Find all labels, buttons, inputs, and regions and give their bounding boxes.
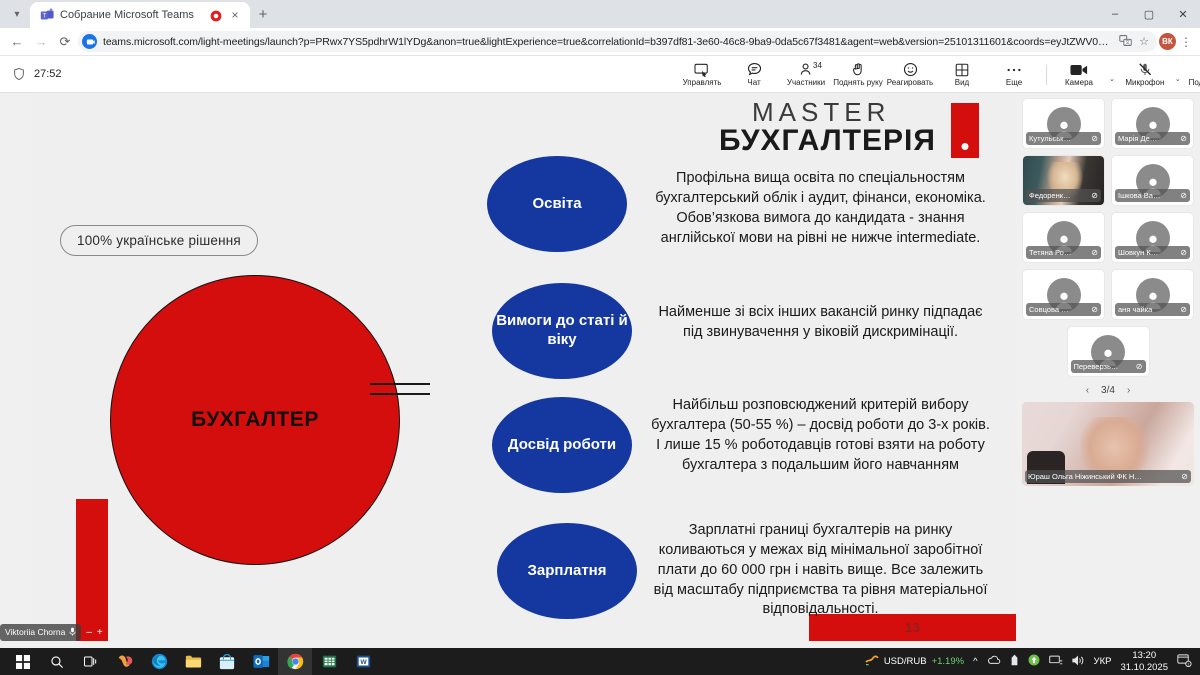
manage-button[interactable]: Управлять (676, 56, 728, 93)
participant-tile[interactable]: Федоренк… ⊘ (1022, 155, 1105, 206)
window-close-button[interactable]: ✕ (1166, 0, 1200, 28)
record-dot-icon[interactable] (210, 9, 222, 21)
slide-ellipse-experience: Досвід роботи (492, 397, 632, 493)
slide-ellipse-salary: Зарплатня (497, 523, 637, 619)
tab-title: Собрание Microsoft Teams (60, 9, 204, 21)
participant-name-chip: Федоренк… ⊘ (1026, 189, 1101, 202)
stocks-label: USD/RUB (884, 656, 927, 667)
participant-name-chip: Ішкова Ва… ⊘ (1115, 189, 1190, 202)
close-icon[interactable]: × (228, 9, 242, 21)
raise-hand-label: Поднять руку (833, 78, 882, 87)
participants-button[interactable]: 34 Участники (780, 56, 832, 93)
participants-count: 34 (813, 61, 822, 70)
meeting-timer: 27:52 (34, 68, 62, 80)
store-icon[interactable] (210, 648, 244, 675)
participant-tile[interactable]: Шовкун К… ⊘ (1111, 212, 1194, 263)
participant-name: аня чайка (1118, 305, 1178, 314)
chrome-icon[interactable] (278, 648, 312, 675)
ellipse-label: Вимоги до статі й віку (492, 312, 632, 350)
smiley-icon (903, 62, 918, 77)
next-page-button[interactable]: › (1127, 385, 1130, 396)
zoom-out-button[interactable]: – (86, 627, 92, 638)
tray-overflow-icon[interactable]: ^ (973, 656, 977, 667)
pen-icon[interactable] (1010, 654, 1019, 670)
participant-name-chip: Марія Де… ⊘ (1115, 132, 1190, 145)
mic-muted-icon: ⊘ (1091, 248, 1098, 257)
participant-name: Кутульськ… (1029, 134, 1089, 143)
participant-name: Совцова … (1029, 305, 1089, 314)
participant-tile[interactable]: Совцова … ⊘ (1022, 269, 1105, 320)
slide-text-salary: Зарплатні границі бухгалтерів на ринку к… (648, 521, 993, 620)
participant-rail: Кутульськ… ⊘ Марія Де… ⊘ Федоренк… ⊘ (1016, 93, 1200, 653)
ellipse-label: Освіта (532, 195, 581, 214)
word-icon[interactable]: W (346, 648, 380, 675)
participant-name: Шовкун К… (1118, 248, 1178, 257)
excel-icon[interactable] (312, 648, 346, 675)
mic-muted-icon: ⊘ (1091, 305, 1098, 314)
mic-muted-icon: ⊘ (1180, 248, 1187, 257)
svg-text:T: T (43, 13, 47, 20)
camera-chevron-down-icon[interactable]: ⌄ (1105, 75, 1119, 83)
stocks-glyph-icon (865, 654, 879, 669)
slide-text-experience: Найбільш розповсюджений критерій вибору … (648, 396, 993, 475)
participant-grid: Кутульськ… ⊘ Марія Де… ⊘ Федоренк… ⊘ (1022, 98, 1194, 320)
roster-pager: ‹ 3/4 › (1022, 377, 1194, 402)
master-buhgalteria-logo: MASTER БУХГАЛТЕРІЯ (719, 99, 979, 157)
address-bar[interactable]: teams.microsoft.com/light-meetings/launc… (78, 31, 1157, 52)
update-icon[interactable] (1028, 654, 1040, 669)
self-name-chip: Viktoriia Chorna (0, 624, 81, 641)
participant-name-chip: Кутульськ… ⊘ (1026, 132, 1101, 145)
participant-name: Марія Де… (1118, 134, 1178, 143)
participant-name-chip: аня чайка ⊘ (1115, 303, 1190, 316)
start-button[interactable] (6, 648, 40, 675)
forward-button: → (30, 31, 52, 53)
teams-icon: T (40, 8, 54, 22)
microphone-button[interactable]: Микрофон (1119, 56, 1171, 93)
logo-buhgalteria-text: БУХГАЛТЕРІЯ (719, 125, 979, 157)
mic-chevron-down-icon[interactable]: ⌄ (1171, 75, 1185, 83)
profile-avatar[interactable]: ВК (1159, 33, 1176, 50)
more-button[interactable]: Еще (988, 56, 1040, 93)
slide-main-circle: БУХГАЛТЕР (110, 275, 400, 565)
ellipse-label: Зарплатня (528, 562, 607, 581)
mic-muted-icon: ⊘ (1180, 191, 1187, 200)
participant-tile[interactable]: Кутульськ… ⊘ (1022, 98, 1105, 149)
onedrive-icon[interactable] (987, 655, 1001, 668)
taskbar-icons: W (0, 648, 380, 675)
notification-icon[interactable]: 1 (1177, 654, 1192, 670)
windows-taskbar: W USD/RUB +1.19% ^ (0, 648, 1200, 675)
participant-name: Тетяна Ро… (1029, 248, 1089, 257)
share-label: Поделиться (1189, 78, 1200, 87)
decorative-red-bar-left (76, 499, 108, 641)
slide-text-education: Профільна вища освіта по спеціальностям … (648, 169, 993, 248)
participant-name-chip: Юраш Ольга Ніжинський ФК Н… ⊘ (1025, 470, 1191, 483)
participant-name: Федоренк… (1029, 191, 1089, 200)
clock-time: 13:20 (1120, 650, 1168, 661)
folder-icon[interactable] (176, 648, 210, 675)
react-button[interactable]: Реагировать (884, 56, 936, 93)
network-icon[interactable] (1049, 655, 1063, 669)
stocks-change: +1.19% (932, 656, 965, 667)
chat-icon (747, 62, 762, 77)
mic-muted-icon: ⊘ (1091, 191, 1098, 200)
slide-ellipse-education: Освіта (487, 156, 627, 252)
participant-name-chip: Тетяна Ро… ⊘ (1026, 246, 1101, 259)
participant-name: Ішкова Ва… (1118, 191, 1178, 200)
hand-icon (851, 62, 865, 77)
slide-main-circle-label: БУХГАЛТЕР (191, 408, 319, 432)
mic-icon (69, 627, 76, 638)
view-button[interactable]: Вид (936, 56, 988, 93)
view-label: Вид (955, 78, 969, 87)
reload-button[interactable]: ⟳ (54, 31, 76, 53)
window-controls: – ▢ ✕ (1098, 0, 1200, 28)
url-text: teams.microsoft.com/light-meetings/launc… (103, 36, 1113, 48)
raise-hand-button[interactable]: Поднять руку (832, 56, 884, 93)
teams-controls: Управлять Чат 34 Участники Поднять руку (676, 56, 1200, 93)
slide-ellipse-gender-age: Вимоги до статі й віку (492, 283, 632, 379)
prev-page-button[interactable]: ‹ (1086, 385, 1089, 396)
back-button[interactable]: ← (6, 31, 28, 53)
shield-icon (12, 67, 26, 81)
participant-tile[interactable]: Ішкова Ва… ⊘ (1111, 155, 1194, 206)
red-dot-mark-icon (951, 103, 979, 158)
browser-tab[interactable]: T Собрание Microsoft Teams × (30, 2, 250, 28)
participant-tile[interactable]: Марія Де… ⊘ (1111, 98, 1194, 149)
browser-menu-icon[interactable]: ⋮ (1178, 35, 1194, 49)
self-video-tile[interactable]: Viktoriia Chorna – + (0, 621, 110, 643)
teams-site-icon (82, 34, 97, 49)
language-indicator[interactable]: УКР (1094, 656, 1112, 667)
outlook-icon[interactable] (244, 648, 278, 675)
participant-tile[interactable]: аня чайка ⊘ (1111, 269, 1194, 320)
share-button[interactable]: Поделиться (1185, 56, 1200, 93)
slide-badge: 100% українське рішення (60, 225, 258, 256)
page-indicator: 3/4 (1101, 385, 1115, 396)
chat-button[interactable]: Чат (728, 56, 780, 93)
participant-tile-solo[interactable]: Переверзь… ⊘ (1067, 326, 1150, 377)
participants-label: Участники (787, 78, 825, 87)
ellipse-label: Досвід роботи (508, 436, 616, 455)
edge-icon[interactable] (142, 648, 176, 675)
participant-tile[interactable]: Тетяна Ро… ⊘ (1022, 212, 1105, 263)
toolbar-divider (1046, 65, 1047, 85)
volume-icon[interactable] (1072, 655, 1085, 669)
mic-muted-icon: ⊘ (1136, 362, 1143, 371)
microphone-label: Микрофон (1125, 78, 1164, 87)
logo-master-text: MASTER (719, 99, 979, 125)
react-label: Реагировать (887, 78, 933, 87)
mic-muted-icon: ⊘ (1180, 134, 1187, 143)
participant-name: Юраш Ольга Ніжинський ФК Н… (1028, 472, 1179, 481)
teams-meeting-toolbar: 27:52 Управлять Чат 34 Участники (0, 56, 1200, 93)
mic-muted-icon (1138, 62, 1152, 77)
minimize-button[interactable]: – (1098, 0, 1132, 28)
clock-date: 31.10.2025 (1120, 662, 1168, 673)
stocks-widget[interactable]: USD/RUB +1.19% (865, 654, 964, 669)
chrome-window: ▾ T Собрание Microsoft Teams × + – ▢ ✕ ←… (0, 0, 1200, 675)
people-icon (799, 62, 814, 77)
star-icon[interactable]: ☆ (1139, 35, 1149, 48)
slide-text-gender-age: Найменше зі всіх інших вакансій ринку пі… (648, 303, 993, 343)
camera-icon (1070, 62, 1088, 77)
svg-text:W: W (360, 659, 367, 666)
tab-strip: ▾ T Собрание Microsoft Teams × + – ▢ ✕ (0, 0, 1200, 28)
new-tab-button[interactable]: + (250, 1, 276, 27)
participant-name-chip: Переверзь… ⊘ (1071, 360, 1146, 373)
self-name: Viktoriia Chorna (5, 627, 65, 637)
participant-name: Переверзь… (1074, 362, 1134, 371)
ellipsis-icon (1006, 62, 1022, 77)
participant-name-chip: Совцова … ⊘ (1026, 303, 1101, 316)
system-tray: USD/RUB +1.19% ^ УКР 13:20 31.10.20 (865, 650, 1200, 673)
connector-lines (370, 375, 430, 403)
more-label: Еще (1006, 78, 1022, 87)
zoom-in-button[interactable]: + (97, 627, 103, 638)
mic-muted-icon: ⊘ (1181, 472, 1188, 481)
mic-muted-icon: ⊘ (1091, 134, 1098, 143)
manage-label: Управлять (683, 78, 722, 87)
shared-slide[interactable]: 100% українське рішення БУХГАЛТЕР 13 MAS… (33, 93, 1016, 641)
camera-label: Камера (1065, 78, 1093, 87)
share-screen-icon (694, 62, 710, 77)
browser-toolbar: ← → ⟳ teams.microsoft.com/light-meetings… (0, 28, 1200, 56)
self-zoom-controls[interactable]: – + (81, 627, 102, 638)
maximize-button[interactable]: ▢ (1132, 0, 1166, 28)
copilot-icon[interactable] (108, 648, 142, 675)
spotlight-participant-tile[interactable]: Юраш Ольга Ніжинський ФК Н… ⊘ (1022, 402, 1194, 486)
grid-icon (955, 62, 969, 77)
clock[interactable]: 13:20 31.10.2025 (1120, 650, 1168, 673)
mic-muted-icon: ⊘ (1180, 305, 1187, 314)
camera-button[interactable]: Камера (1053, 56, 1105, 93)
participant-name-chip: Шовкун К… ⊘ (1115, 246, 1190, 259)
translate-icon[interactable]: 文 (1119, 34, 1132, 50)
chat-label: Чат (747, 78, 760, 87)
task-view-icon[interactable] (74, 648, 108, 675)
tab-search-chevron-icon[interactable]: ▾ (4, 1, 30, 27)
meeting-stage: 100% українське рішення БУХГАЛТЕР 13 MAS… (0, 93, 1200, 653)
search-icon[interactable] (40, 648, 74, 675)
